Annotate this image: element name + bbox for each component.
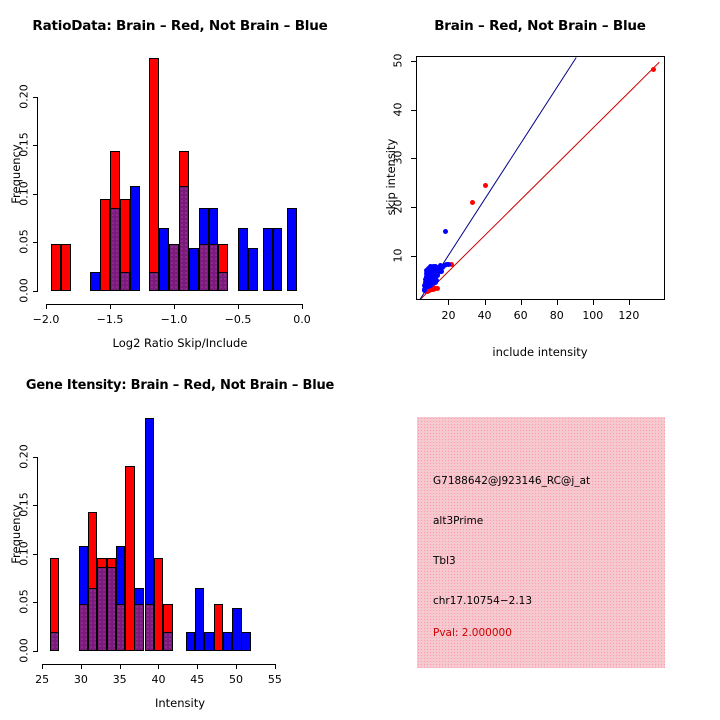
x-tick-label: −1.5 [85, 313, 135, 326]
x-tick-mark [197, 664, 198, 669]
x-tick-label: −2.0 [21, 313, 71, 326]
histogram-bar-overlap [145, 604, 154, 651]
histogram-bar-overlap [134, 604, 143, 651]
histogram-bar [204, 632, 213, 651]
histogram-bar-overlap [110, 208, 120, 291]
gene-y-axis-title: Frequency [9, 474, 23, 594]
histogram-bar [241, 632, 250, 651]
x-tick-mark [46, 304, 47, 309]
scatter-point [651, 67, 656, 72]
histogram-bar-overlap [209, 244, 219, 291]
histogram-bar [214, 604, 223, 651]
y-tick-label: 0.20 [18, 82, 31, 110]
gene-plot-title: Gene Itensity: Brain – Red, Not Brain – … [0, 378, 360, 393]
scatter-x-tick-label: 120 [604, 309, 654, 322]
histogram-bar-overlap [116, 604, 125, 651]
histogram-bar [159, 228, 169, 291]
histogram-bar-overlap [179, 186, 189, 291]
ratio-y-axis-title: Frequency [9, 114, 23, 234]
y-tick-mark [33, 554, 38, 555]
panel-gene-intensity-histogram: Gene Itensity: Brain – Red, Not Brain – … [0, 360, 360, 720]
gene-x-axis-title: Intensity [0, 696, 360, 710]
histogram-bar-overlap [163, 632, 172, 651]
histogram-bar [61, 244, 71, 291]
scatter-y-tick-label: 10 [392, 244, 405, 268]
histogram-bar [263, 228, 273, 291]
histogram-bar [125, 466, 134, 651]
probe-id-text: G7188642@J923146_RC@j_at [433, 475, 590, 487]
histogram-bar [186, 632, 195, 651]
scatter-y-tick-label: 50 [392, 48, 405, 72]
scatter-plot-title: Brain – Red, Not Brain – Blue [360, 18, 720, 34]
scatter-y-tick-mark [411, 256, 416, 257]
histogram-bar-overlap [107, 567, 116, 651]
y-tick-mark [33, 457, 38, 458]
y-tick-mark [33, 602, 38, 603]
y-tick-label: 0.00 [18, 277, 31, 305]
histogram-bar [154, 558, 163, 651]
scatter-point [443, 229, 448, 234]
event-type-text: alt3Prime [433, 515, 483, 527]
scatter-point [470, 200, 475, 205]
histogram-bar [51, 244, 61, 291]
scatter-y-tick-mark [411, 61, 416, 62]
scatter-x-tick-mark [485, 300, 486, 305]
histogram-bar [130, 186, 140, 291]
panel-ratio-histogram: RatioData: Brain – Red, Not Brain – Blue… [0, 0, 360, 360]
scatter-y-tick-mark [411, 110, 416, 111]
histogram-bar-overlap [199, 244, 209, 291]
histogram-bar [90, 272, 100, 291]
y-tick-mark [33, 145, 38, 146]
scatter-point [434, 278, 439, 283]
ratio-plot-title: RatioData: Brain – Red, Not Brain – Blue [0, 18, 360, 34]
x-tick-mark [120, 664, 121, 669]
histogram-bar-overlap [79, 604, 88, 651]
locus-text: chr17.10754−2.13 [433, 595, 532, 607]
y-tick-mark [33, 291, 38, 292]
scatter-x-tick-mark [629, 300, 630, 305]
x-tick-mark [174, 304, 175, 309]
x-tick-mark [158, 664, 159, 669]
x-tick-mark [81, 664, 82, 669]
x-tick-mark [42, 664, 43, 669]
scatter-point [446, 262, 451, 267]
scatter-y-axis-title: skip intensity [384, 117, 398, 237]
scatter-y-tick-mark [411, 158, 416, 159]
y-tick-label: 0.20 [18, 442, 31, 470]
gene-info-box: G7188642@J923146_RC@j_at alt3Prime Tbl3 … [417, 417, 665, 668]
y-tick-mark [33, 97, 38, 98]
scatter-x-tick-mark [593, 300, 594, 305]
histogram-bar [195, 588, 204, 651]
scatter-x-tick-mark [557, 300, 558, 305]
x-tick-label: 55 [250, 673, 300, 686]
histogram-bar [248, 248, 258, 291]
y-tick-mark [33, 242, 38, 243]
regression-line [419, 62, 660, 300]
histogram-bar [149, 58, 159, 291]
x-tick-mark [275, 664, 276, 669]
y-tick-mark [33, 505, 38, 506]
gene-symbol-text: Tbl3 [433, 555, 456, 567]
histogram-bar [287, 208, 297, 291]
scatter-plot-area [416, 56, 665, 300]
x-tick-mark [302, 304, 303, 309]
x-tick-label: 0.0 [277, 313, 327, 326]
x-tick-mark [236, 664, 237, 669]
scatter-y-tick-mark [411, 207, 416, 208]
x-tick-mark [110, 304, 111, 309]
scatter-point [435, 286, 440, 291]
y-tick-label: 0.00 [18, 637, 31, 665]
y-tick-mark [33, 651, 38, 652]
histogram-bar [189, 248, 199, 291]
histogram-bar-overlap [169, 244, 179, 291]
histogram-bar-overlap [88, 588, 97, 651]
ratio-x-axis-title: Log2 Ratio Skip/Include [0, 336, 360, 350]
histogram-bar-overlap [120, 272, 130, 291]
x-tick-label: −0.5 [213, 313, 263, 326]
histogram-bar [238, 228, 248, 291]
histogram-bar [273, 228, 283, 291]
scatter-x-tick-mark [521, 300, 522, 305]
panel-intensity-scatter: Brain – Red, Not Brain – Blue 1020304050… [360, 0, 720, 360]
x-tick-mark [238, 304, 239, 309]
histogram-bar-overlap [149, 272, 159, 291]
histogram-bar-overlap [97, 567, 106, 651]
scatter-point [483, 183, 488, 188]
pval-text: Pval: 2.000000 [433, 627, 512, 639]
histogram-bar-overlap [50, 632, 59, 651]
histogram-bar [232, 608, 241, 651]
panel-gene-info: G7188642@J923146_RC@j_at alt3Prime Tbl3 … [360, 360, 720, 720]
histogram-bar-overlap [218, 272, 228, 291]
y-tick-mark [33, 194, 38, 195]
histogram-bar [100, 199, 110, 291]
scatter-x-tick-mark [448, 300, 449, 305]
x-tick-label: −1.0 [149, 313, 199, 326]
histogram-bar [223, 632, 232, 651]
scatter-x-axis-title: include intensity [360, 345, 720, 359]
